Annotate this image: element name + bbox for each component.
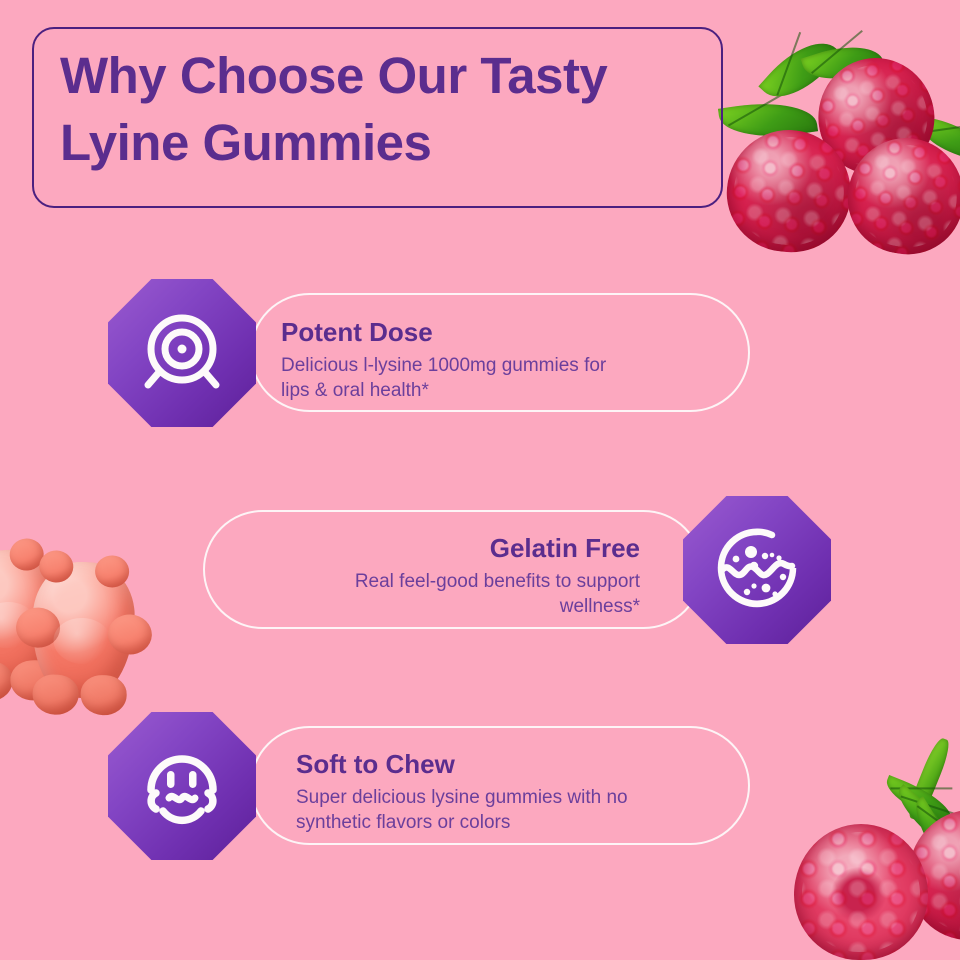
feature-title: Gelatin Free [230, 532, 640, 565]
page-title-line-1: Why Choose Our Tasty [60, 42, 740, 109]
leaf-icon [880, 775, 958, 825]
gummy-bears-decoration [0, 540, 160, 720]
leaf-icon [915, 116, 960, 162]
feature-title: Soft to Chew [296, 748, 736, 781]
infographic-canvas: Why Choose Our Tasty Lyine Gummies Poten… [0, 0, 960, 960]
badge-potent-dose[interactable] [108, 279, 256, 427]
gelatin-bowl-icon [709, 522, 805, 618]
feature-desc-line-1: Delicious l-lysine 1000mg gummies for [281, 353, 731, 379]
badge-gelatin-free[interactable] [683, 496, 831, 644]
raspberry-icon [721, 124, 857, 258]
raspberry-icon [839, 129, 960, 263]
page-title: Why Choose Our Tasty Lyine Gummies [60, 42, 740, 177]
feature-desc-line-1: Super delicious lysine gummies with no [296, 785, 736, 811]
smiling-face-icon [134, 738, 230, 834]
leaf-icon [758, 27, 841, 113]
gummy-bear-icon [29, 559, 138, 700]
page-title-line-2: Lyine Gummies [60, 109, 740, 176]
feature-text-soft-to-chew: Soft to Chew Super delicious lysine gumm… [296, 748, 736, 836]
raspberry-icon [807, 47, 945, 185]
raspberry-icon [908, 810, 960, 940]
feature-title: Potent Dose [281, 316, 731, 349]
leaf-icon [906, 796, 956, 859]
feature-text-gelatin-free: Gelatin Free Real feel-good benefits to … [230, 532, 640, 620]
feature-desc-line-1: Real feel-good benefits to support [230, 569, 640, 595]
feature-desc-line-2: wellness* [230, 594, 640, 620]
feature-desc-line-2: synthetic flavors or colors [296, 810, 736, 836]
raspberries-bottom-right-decoration [770, 730, 960, 960]
leaf-icon [889, 784, 957, 846]
target-bullseye-icon [134, 305, 230, 401]
feature-desc-line-2: lips & oral health* [281, 378, 731, 404]
feature-text-potent-dose: Potent Dose Delicious l-lysine 1000mg gu… [281, 316, 731, 404]
gummy-bear-icon [0, 547, 61, 687]
leaf-icon [801, 35, 886, 91]
raspberry-icon [794, 824, 928, 960]
badge-soft-to-chew[interactable] [108, 712, 256, 860]
stem-icon [905, 736, 954, 822]
